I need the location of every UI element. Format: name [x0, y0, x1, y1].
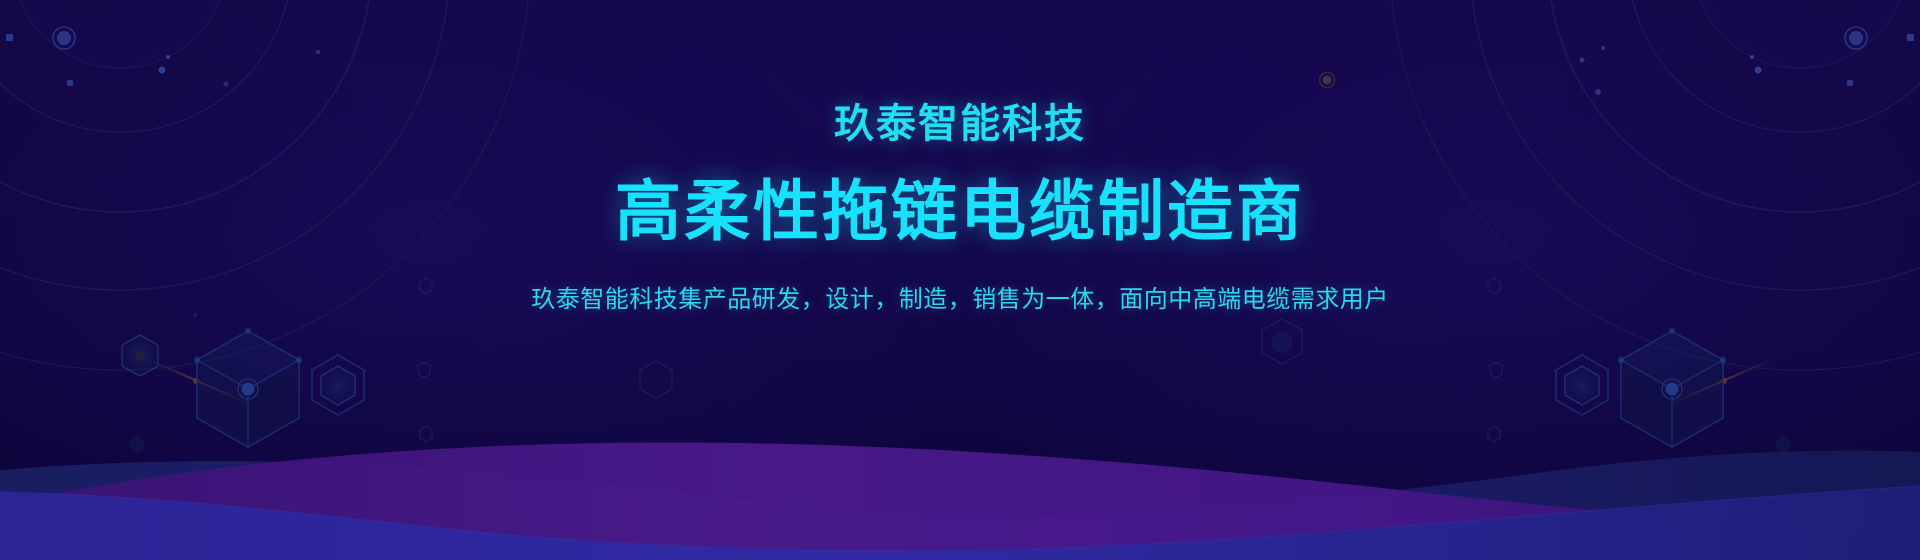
- tagline: 玖泰智能科技集产品研发，设计，制造，销售为一体，面向中高端电缆需求用户: [531, 286, 1389, 315]
- company-name: 玖泰智能科技: [834, 104, 1086, 144]
- banner-content: 玖泰智能科技 高柔性拖链电缆制造商 玖泰智能科技集产品研发，设计，制造，销售为一…: [0, 0, 1920, 560]
- hero-banner: 玖泰智能科技 高柔性拖链电缆制造商 玖泰智能科技集产品研发，设计，制造，销售为一…: [0, 0, 1920, 560]
- page-title: 高柔性拖链电缆制造商: [615, 178, 1305, 244]
